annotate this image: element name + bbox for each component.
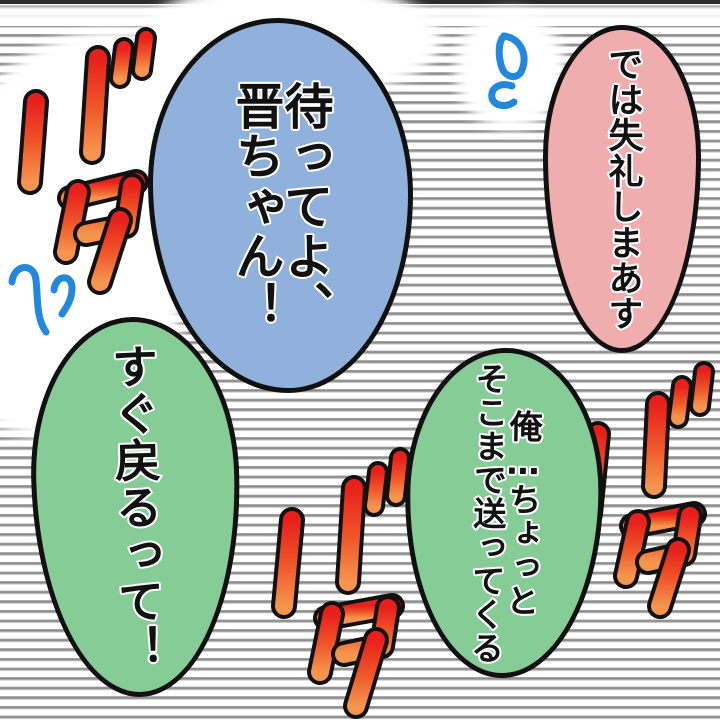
motion-mark-left-icon xyxy=(4,256,94,346)
speech-balloon-blue-text-col-1: 晋ちゃん！ xyxy=(232,81,281,331)
speech-balloon-green-right-text-col-0: 俺…ちょっと xyxy=(502,409,540,618)
manga-panel: すぐ戻るって！ 晋ちゃん！ 待ってよ、 そこまで送ってくる 俺…ちょっと では失… xyxy=(0,0,720,720)
speech-balloon-green-left-text: すぐ戻るって！ xyxy=(109,342,164,672)
motion-mark-top-right-icon xyxy=(480,28,550,108)
speech-balloon-pink-text: では失礼しまあす xyxy=(605,46,640,332)
speech-balloon-blue-text-col-0: 待ってよ、 xyxy=(281,81,330,331)
speech-balloon-green-right-text-col-1: そこまで送ってくる xyxy=(467,361,507,665)
